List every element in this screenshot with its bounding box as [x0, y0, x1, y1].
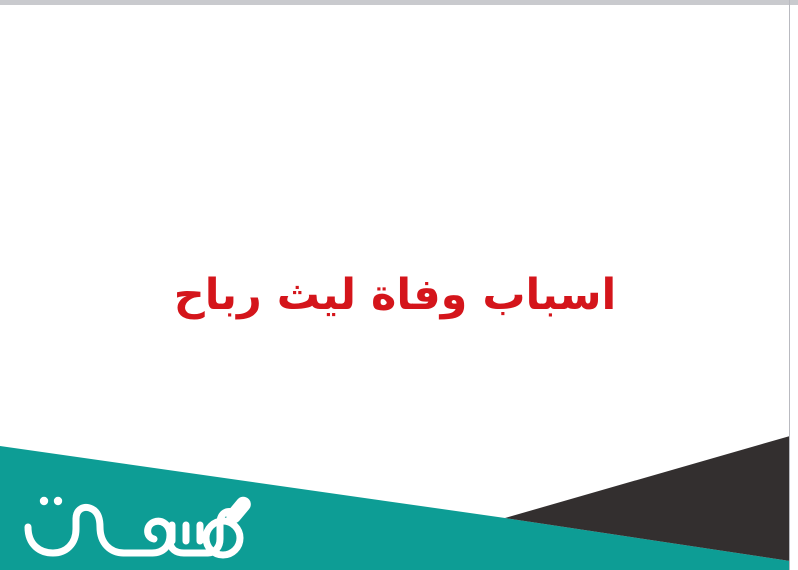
glyph-taa-dots	[40, 497, 62, 505]
glyph-taa-marbuta	[28, 519, 76, 553]
brand-logo[interactable]: موسوعة	[12, 489, 262, 561]
slide-canvas: اسباب وفاة ليث رباح	[0, 0, 798, 570]
page-title: اسباب وفاة ليث رباح	[174, 269, 617, 323]
right-edge-gutter	[790, 5, 798, 570]
glyph-waw	[148, 521, 170, 553]
headline-block: اسباب وفاة ليث رباح	[0, 258, 790, 334]
glyph-ain	[76, 507, 124, 553]
brand-logo-artwork: موسوعة	[12, 489, 262, 561]
wordmark-strokes	[28, 507, 240, 555]
top-edge-band	[0, 0, 798, 5]
glyph-seen-teeth	[172, 525, 200, 541]
